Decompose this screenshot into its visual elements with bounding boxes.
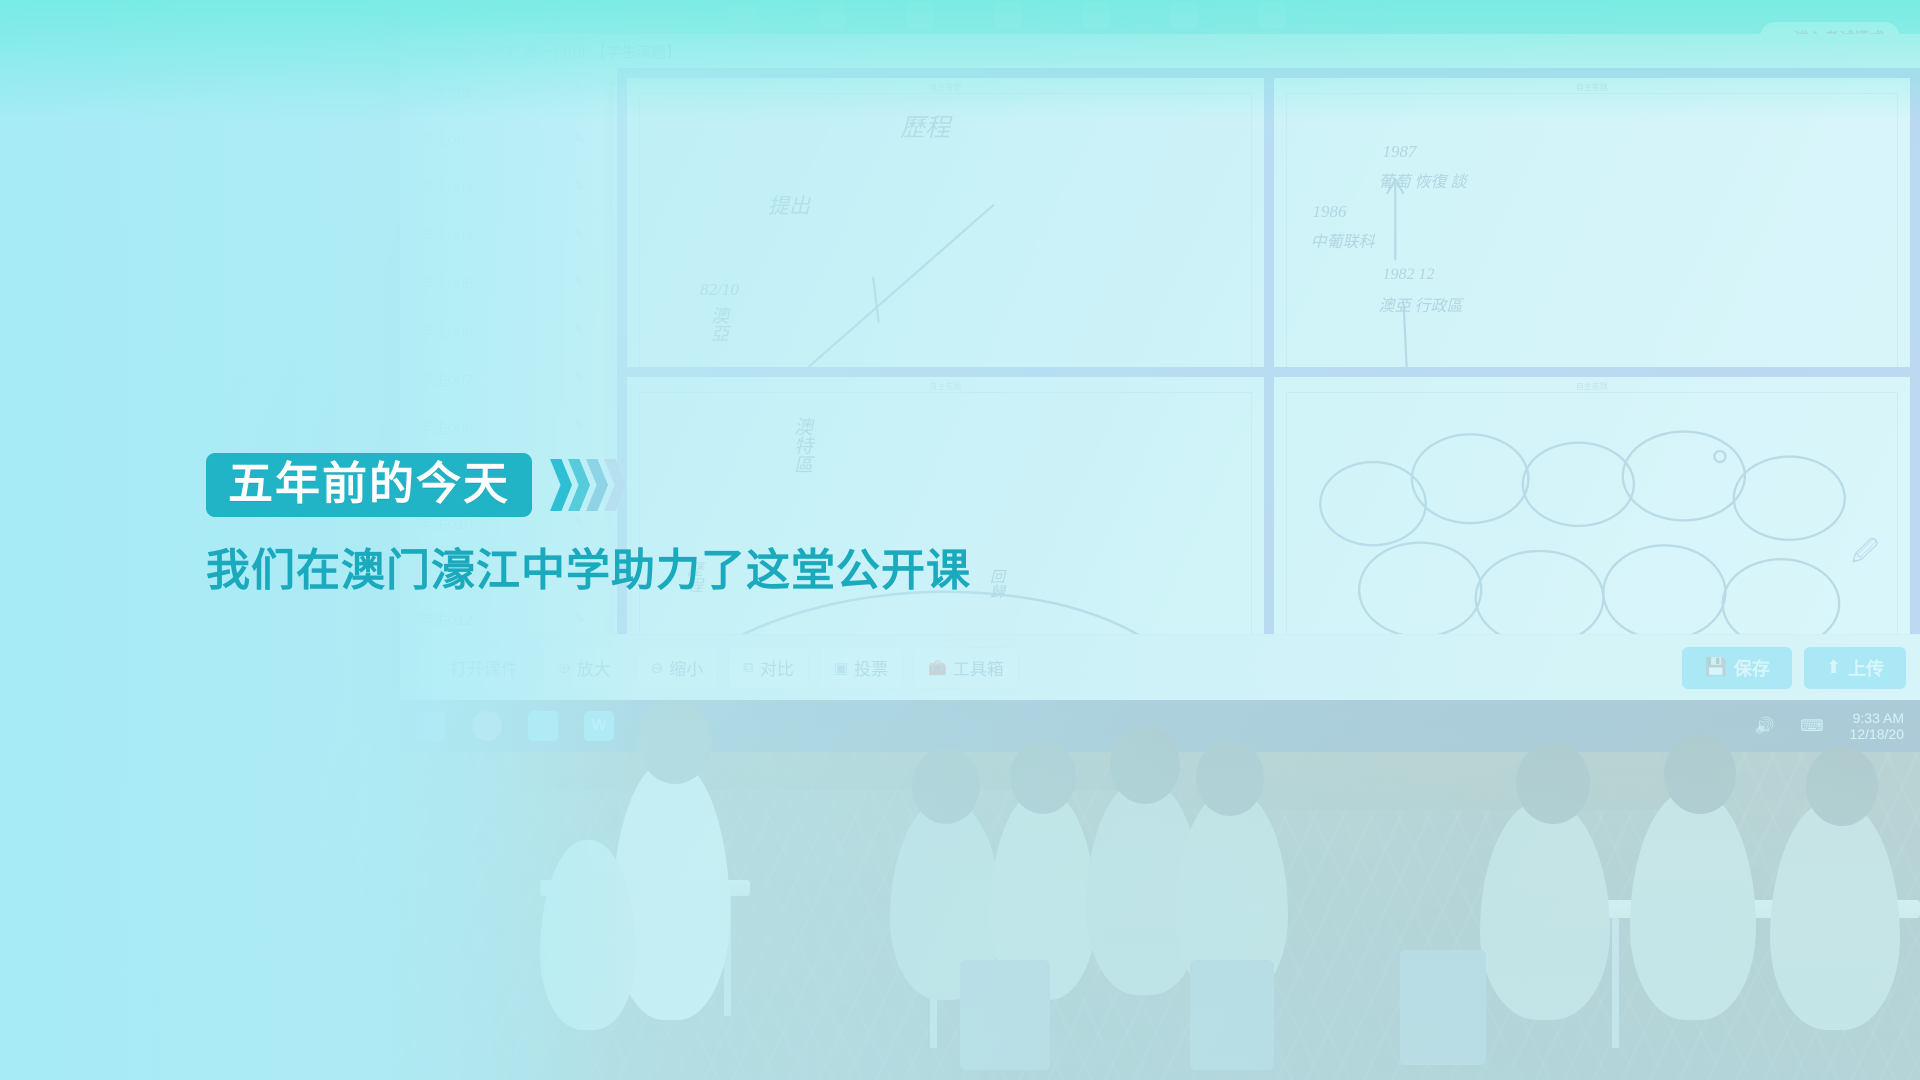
chevron-group xyxy=(554,459,626,511)
overlay-top-glow xyxy=(0,0,1920,120)
promo-subtitle: 我们在澳门濠江中学助力了这堂公开课 xyxy=(206,534,971,598)
chevron-right-icon xyxy=(550,459,572,511)
promo-badge: 五年前的今天 xyxy=(206,453,532,517)
promo-badge-row: 五年前的今天 xyxy=(206,453,971,517)
screenshot-root: ➦ 进入考试模式 课堂互动 · 历史 高一(3)班 【学生演题】 学生001 ✎… xyxy=(0,0,1920,1080)
promo-block: 五年前的今天 我们在澳门濠江中学助力了这堂公开课 xyxy=(206,453,971,598)
